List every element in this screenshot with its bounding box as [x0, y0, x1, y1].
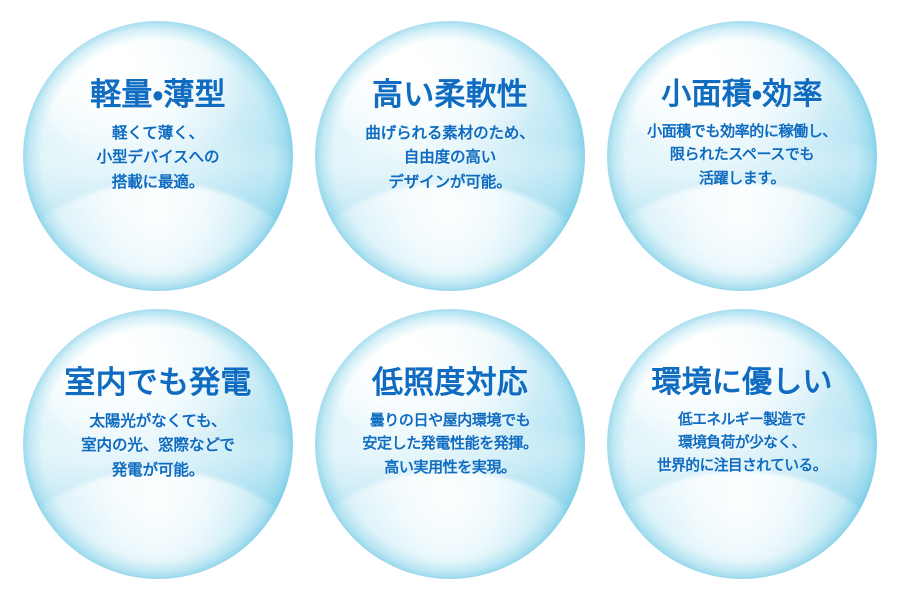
feature-circles-canvas: 軽量・薄型 軽くて薄く、 小型デバイスへの 搭載に最適。 高い柔軟性 曲げられる…: [0, 0, 900, 600]
feature-title: 環境に優しい: [651, 367, 832, 399]
feature-content: 小面積・効率 小面積でも効率的に稼働し、 限られたスペースでも 活躍します。: [607, 21, 877, 291]
feature-content: 環境に優しい 低エネルギー製造で 環境負荷が少なく、 世界的に注目されている。: [607, 309, 877, 579]
feature-circle-eco-friendly[interactable]: 環境に優しい 低エネルギー製造で 環境負荷が少なく、 世界的に注目されている。: [607, 309, 877, 579]
feature-title: 低照度対応: [372, 367, 528, 400]
feature-grid: 軽量・薄型 軽くて薄く、 小型デバイスへの 搭載に最適。 高い柔軟性 曲げられる…: [0, 0, 900, 600]
feature-description: 曲げられる素材のため、 自由度の高い デザインが可能。: [359, 121, 540, 194]
feature-description: 太陽光がなくても、 室内の光、窓際などで 発電が可能。: [75, 409, 241, 482]
feature-content: 低照度対応 曇りの日や屋内環境でも 安定した発電性能を発揮。 高い実用性を実現。: [315, 309, 585, 579]
feature-content: 軽量・薄型 軽くて薄く、 小型デバイスへの 搭載に最適。: [23, 21, 293, 291]
feature-title: 小面積・効率: [661, 79, 822, 111]
feature-circle-small-area-efficiency[interactable]: 小面積・効率 小面積でも効率的に稼働し、 限られたスペースでも 活躍します。: [607, 21, 877, 291]
feature-title: 高い柔軟性: [372, 79, 528, 112]
feature-title: 軽量・薄型: [90, 79, 226, 112]
feature-content: 室内でも発電 太陽光がなくても、 室内の光、窓際などで 発電が可能。: [23, 309, 293, 579]
feature-circle-indoor-power-generation[interactable]: 室内でも発電 太陽光がなくても、 室内の光、窓際などで 発電が可能。: [23, 309, 293, 579]
feature-description: 低エネルギー製造で 環境負荷が少なく、 世界的に注目されている。: [651, 408, 833, 477]
feature-circle-low-illuminance-support[interactable]: 低照度対応 曇りの日や屋内環境でも 安定した発電性能を発揮。 高い実用性を実現。: [315, 309, 585, 579]
feature-description: 小面積でも効率的に稼働し、 限られたスペースでも 活躍します。: [641, 120, 843, 191]
feature-circle-lightweight-thin[interactable]: 軽量・薄型 軽くて薄く、 小型デバイスへの 搭載に最適。: [23, 21, 293, 291]
feature-description: 曇りの日や屋内環境でも 安定した発電性能を発揮。 高い実用性を実現。: [356, 409, 543, 480]
feature-circle-high-flexibility[interactable]: 高い柔軟性 曲げられる素材のため、 自由度の高い デザインが可能。: [315, 21, 585, 291]
feature-content: 高い柔軟性 曲げられる素材のため、 自由度の高い デザインが可能。: [315, 21, 585, 291]
feature-title: 室内でも発電: [64, 367, 251, 400]
feature-description: 軽くて薄く、 小型デバイスへの 搭載に最適。: [91, 121, 226, 194]
